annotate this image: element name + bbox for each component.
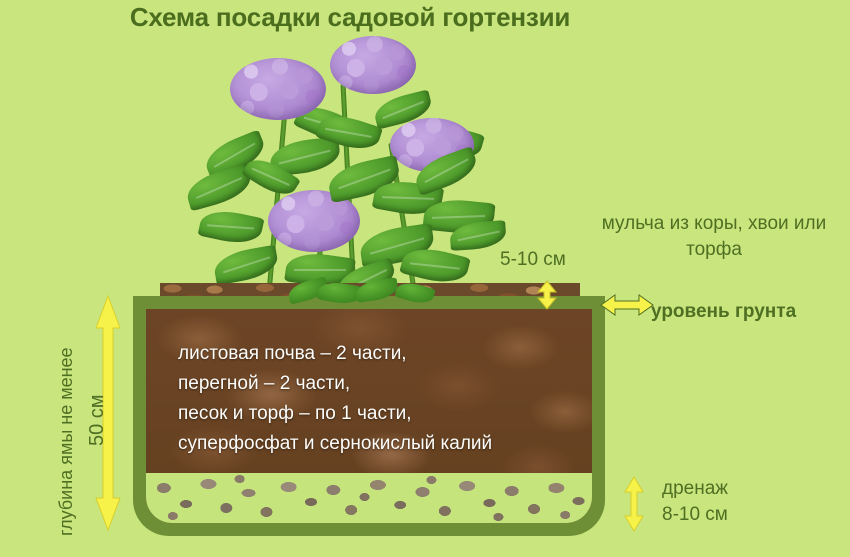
ground-level-arrow bbox=[600, 292, 654, 318]
soil-mix-line: листовая почва – 2 части, bbox=[178, 339, 592, 369]
drainage-label: дренаж 8-10 см bbox=[662, 476, 782, 528]
planting-scheme-diagram: Схема посадки садовой гортензии bbox=[0, 0, 850, 557]
pit-depth-label: глубина ямы не менее bbox=[56, 347, 77, 536]
plant-leaf bbox=[198, 206, 265, 248]
planting-pit: листовая почва – 2 части, перегной – 2 ч… bbox=[133, 296, 605, 536]
hydrangea-bloom bbox=[330, 36, 416, 94]
drainage-depth: 8-10 см bbox=[662, 502, 782, 528]
drainage-name: дренаж bbox=[662, 476, 782, 502]
hydrangea-plant-illustration bbox=[178, 22, 508, 294]
mulch-depth-label: 5-10 см bbox=[500, 247, 566, 273]
soil-mix-line: песок и торф – по 1 части, bbox=[178, 399, 592, 429]
drainage-depth-arrow bbox=[622, 476, 646, 532]
soil-mix-text: листовая почва – 2 части, перегной – 2 ч… bbox=[178, 339, 592, 459]
soil-mix-line: суперфосфат и сернокислый калий bbox=[178, 429, 592, 459]
mulch-label: мульча из коры, хвои или торфа bbox=[588, 211, 840, 263]
hydrangea-bloom bbox=[230, 58, 326, 120]
pit-depth-value: 50 см bbox=[86, 394, 109, 446]
drainage-gravel-layer bbox=[146, 473, 592, 523]
soil-mix-line: перегной – 2 части, bbox=[178, 369, 592, 399]
ground-level-label: уровень грунта bbox=[651, 299, 796, 325]
mulch-depth-arrow bbox=[536, 280, 558, 310]
soil-body: листовая почва – 2 части, перегной – 2 ч… bbox=[146, 309, 592, 523]
